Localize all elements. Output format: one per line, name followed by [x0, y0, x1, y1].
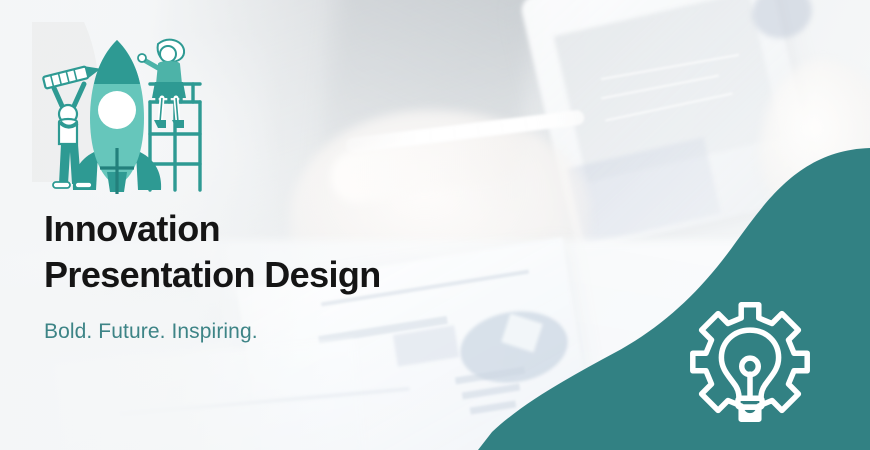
subtitle: Bold. Future. Inspiring. [44, 320, 514, 344]
presentation-slide: Innovation Presentation Design Bold. Fut… [0, 0, 870, 450]
person-on-scaffold [138, 40, 186, 128]
headline-line-2: Presentation Design [44, 252, 514, 298]
headline-line-1: Innovation [44, 208, 220, 249]
rocket-nose-cone [94, 40, 140, 84]
text-block: Innovation Presentation Design Bold. Fut… [44, 206, 514, 344]
page-title: Innovation Presentation Design [44, 206, 514, 298]
rocket-porthole [98, 91, 136, 129]
lightbulb-gear-icon [684, 296, 816, 428]
rocket-launch-teamwork-illustration [32, 22, 212, 202]
rocket-fin-right [136, 152, 161, 190]
